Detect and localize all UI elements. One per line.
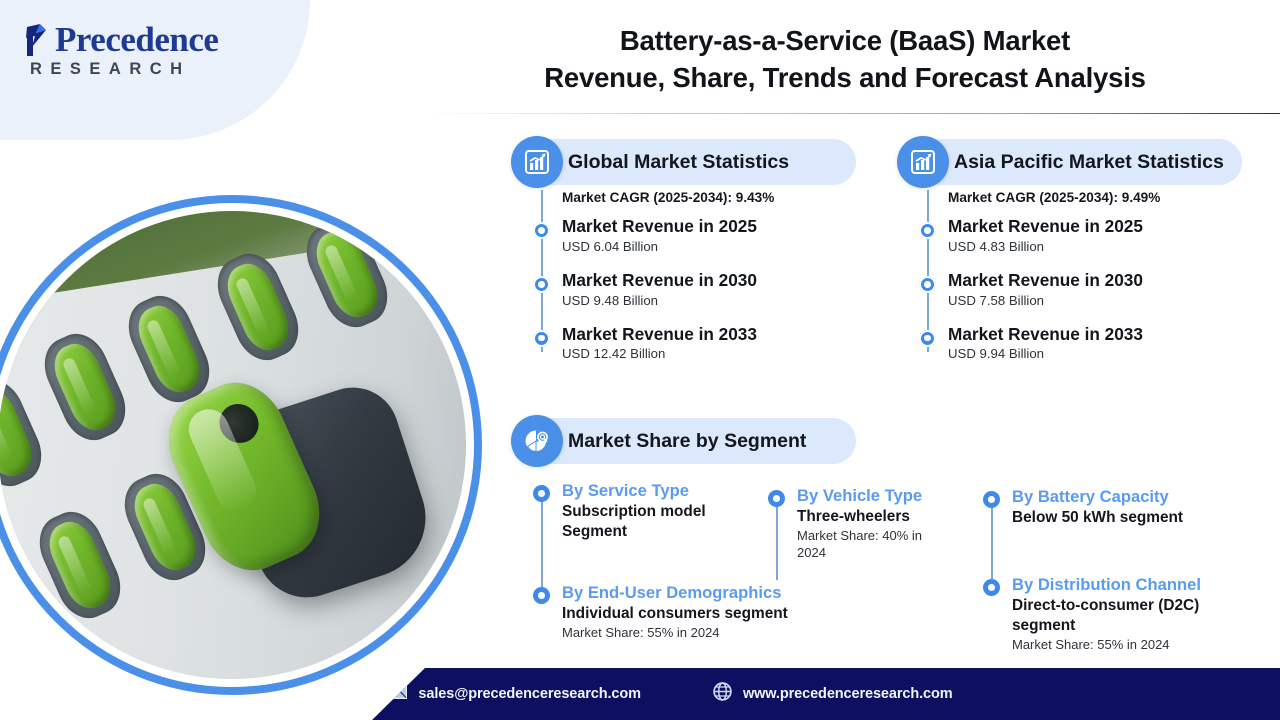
brand-logo[interactable]: Precedence RESEARCH bbox=[24, 22, 284, 79]
segment-by-vehicle-type: By Vehicle Type Three-wheelers Market Sh… bbox=[765, 486, 945, 562]
precedence-arrow-logo-icon bbox=[24, 23, 54, 57]
stat-row: Market Revenue in 2025 USD 4.83 Billion bbox=[916, 217, 1246, 254]
segment-label: By Battery Capacity bbox=[980, 487, 1240, 507]
logo-subtext: RESEARCH bbox=[30, 60, 284, 79]
globe-icon bbox=[713, 682, 732, 706]
timeline-rail bbox=[541, 497, 543, 597]
panel-title-asia-pacific: Asia Pacific Market Statistics bbox=[954, 151, 1224, 174]
bullet-dot-icon bbox=[983, 491, 1000, 508]
segment-label: By Vehicle Type bbox=[765, 486, 945, 506]
stat-row: Market Revenue in 2030 USD 9.48 Billion bbox=[530, 271, 860, 308]
footer-website-text: www.precedenceresearch.com bbox=[743, 686, 953, 702]
panel-title-global: Global Market Statistics bbox=[568, 151, 789, 174]
segment-note: Market Share: 55% in 2024 bbox=[980, 637, 1245, 654]
segment-by-service-type: By Service Type Subscription model Segme… bbox=[530, 481, 765, 542]
cagr-asia-pacific: Market CAGR (2025-2034): 9.49% bbox=[916, 190, 1246, 205]
stat-value: USD 9.48 Billion bbox=[562, 293, 860, 308]
panel-header-asia-pacific-market-statistics[interactable]: Asia Pacific Market Statistics bbox=[898, 139, 1242, 185]
bullet-dot-icon bbox=[533, 485, 550, 502]
segment-value: Individual consumers segment bbox=[530, 604, 810, 624]
panel-title-segments: Market Share by Segment bbox=[568, 430, 806, 453]
footer-website[interactable]: www.precedenceresearch.com bbox=[713, 682, 953, 706]
segment-value: Three-wheelers bbox=[765, 507, 945, 527]
segment-label: By Distribution Channel bbox=[980, 575, 1245, 595]
segment-value: Direct-to-consumer (D2C) segment bbox=[980, 596, 1245, 636]
hero-image-ring bbox=[0, 195, 482, 695]
stats-list-asia-pacific: Market CAGR (2025-2034): 9.49% Market Re… bbox=[916, 190, 1246, 378]
page-title: Battery-as-a-Service (BaaS) Market Reven… bbox=[430, 22, 1260, 97]
title-line-2: Revenue, Share, Trends and Forecast Anal… bbox=[430, 59, 1260, 96]
stat-label: Market Revenue in 2033 bbox=[562, 325, 860, 345]
bullet-dot-icon bbox=[983, 579, 1000, 596]
charging-plug-hole bbox=[211, 396, 266, 451]
stat-row: Market Revenue in 2033 USD 9.94 Billion bbox=[916, 325, 1246, 362]
title-line-1: Battery-as-a-Service (BaaS) Market bbox=[430, 22, 1260, 59]
panel-header-global-market-statistics[interactable]: Global Market Statistics bbox=[512, 139, 856, 185]
stat-label: Market Revenue in 2030 bbox=[562, 271, 860, 291]
segment-value: Subscription model Segment bbox=[530, 502, 765, 542]
bullet-dot-icon bbox=[533, 276, 550, 293]
cagr-global: Market CAGR (2025-2034): 9.43% bbox=[530, 190, 860, 205]
segment-by-distribution-channel: By Distribution Channel Direct-to-consum… bbox=[980, 575, 1245, 654]
ev-charging-station-photo bbox=[0, 211, 466, 679]
stat-label: Market Revenue in 2030 bbox=[948, 271, 1246, 291]
segment-by-battery-capacity: By Battery Capacity Below 50 kWh segment bbox=[980, 487, 1240, 528]
stat-label: Market Revenue in 2025 bbox=[948, 217, 1246, 237]
timeline-rail bbox=[776, 502, 778, 580]
timeline-rail bbox=[991, 503, 993, 581]
bullet-dot-icon bbox=[533, 587, 550, 604]
bullet-dot-icon bbox=[919, 276, 936, 293]
bar-chart-growth-icon bbox=[511, 136, 563, 188]
stat-row: Market Revenue in 2025 USD 6.04 Billion bbox=[530, 217, 860, 254]
bullet-dot-icon bbox=[919, 222, 936, 239]
envelope-icon bbox=[387, 684, 407, 704]
stats-list-global: Market CAGR (2025-2034): 9.43% Market Re… bbox=[530, 190, 860, 378]
segment-label: By Service Type bbox=[530, 481, 765, 501]
bullet-dot-icon bbox=[768, 490, 785, 507]
footer-email-text: sales@precedenceresearch.com bbox=[418, 686, 641, 702]
segment-note: Market Share: 55% in 2024 bbox=[530, 625, 810, 642]
stat-value: USD 9.94 Billion bbox=[948, 346, 1246, 361]
stat-value: USD 4.83 Billion bbox=[948, 239, 1246, 254]
footer-email[interactable]: sales@precedenceresearch.com bbox=[387, 684, 641, 704]
segment-value: Below 50 kWh segment bbox=[980, 508, 1240, 528]
stat-row: Market Revenue in 2033 USD 12.42 Billion bbox=[530, 325, 860, 362]
segment-note: Market Share: 40% in 2024 bbox=[765, 528, 945, 562]
stat-row: Market Revenue in 2030 USD 7.58 Billion bbox=[916, 271, 1246, 308]
stat-value: USD 6.04 Billion bbox=[562, 239, 860, 254]
bullet-dot-icon bbox=[533, 330, 550, 347]
bullet-dot-icon bbox=[533, 222, 550, 239]
stat-label: Market Revenue in 2033 bbox=[948, 325, 1246, 345]
stat-value: USD 12.42 Billion bbox=[562, 346, 860, 361]
logo-word-text: Precedence bbox=[55, 22, 218, 57]
stat-value: USD 7.58 Billion bbox=[948, 293, 1246, 308]
panel-header-market-share-by-segment[interactable]: Market Share by Segment bbox=[512, 418, 856, 464]
stat-label: Market Revenue in 2025 bbox=[562, 217, 860, 237]
segment-by-end-user-demographics: By End-User Demographics Individual cons… bbox=[530, 583, 810, 642]
bullet-dot-icon bbox=[919, 330, 936, 347]
pie-chart-search-icon bbox=[511, 415, 563, 467]
title-divider bbox=[425, 113, 1280, 114]
logo-wordmark: Precedence bbox=[24, 22, 284, 57]
bar-chart-growth-icon bbox=[897, 136, 949, 188]
segment-label: By End-User Demographics bbox=[530, 583, 810, 603]
